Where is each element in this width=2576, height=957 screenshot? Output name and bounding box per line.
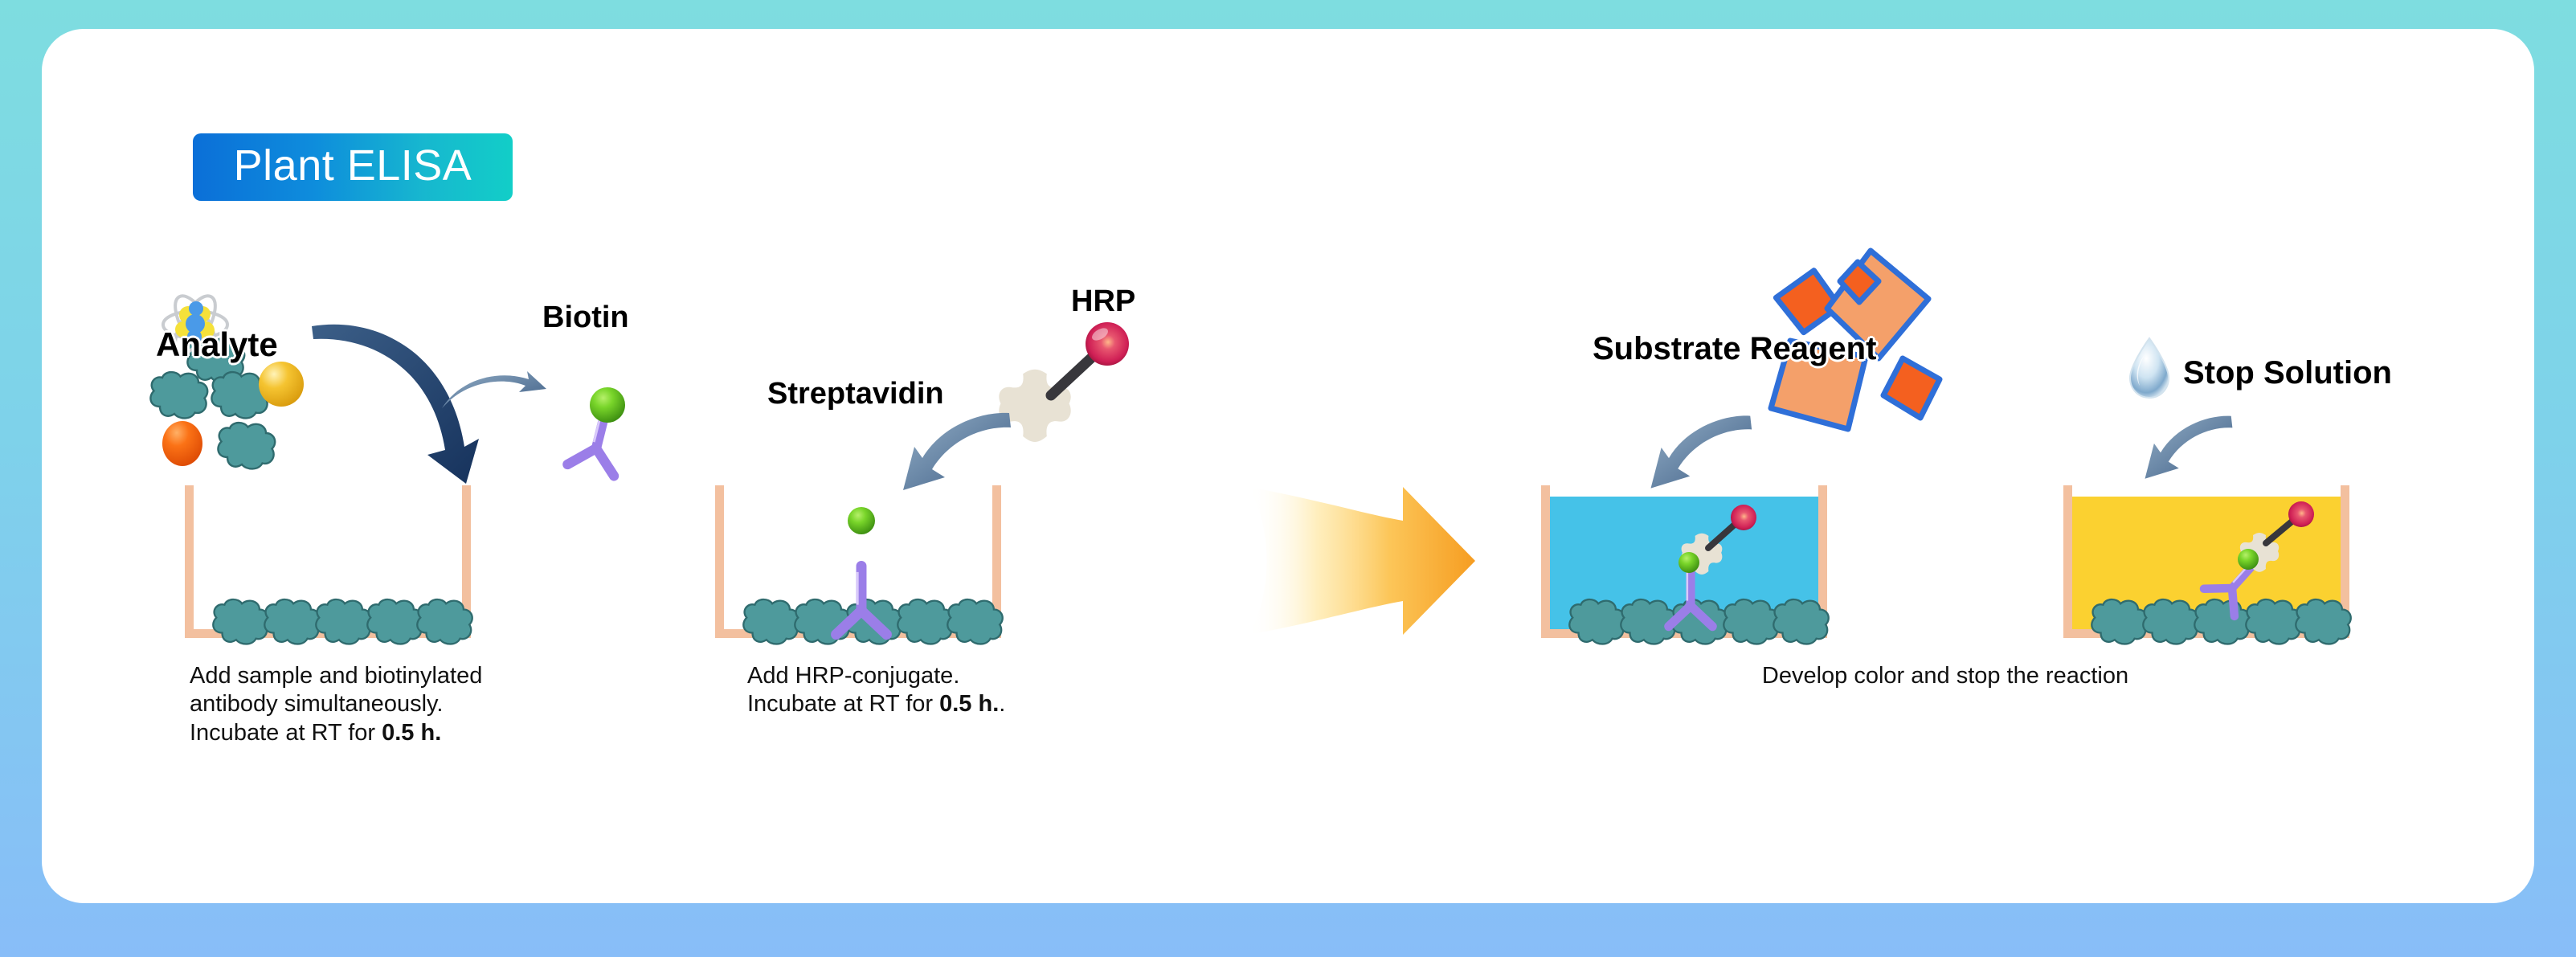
biotin-sphere (590, 387, 625, 423)
microplate-well-4 (2063, 485, 2349, 638)
microplate-well-3 (1541, 485, 1827, 638)
page-title-badge: Plant ELISA (193, 133, 513, 201)
curved-down-arrow-icon (442, 371, 546, 408)
orange-sphere (162, 421, 202, 466)
diagram-stage: Plant ELISA (42, 29, 2534, 903)
biotin-sphere (1678, 552, 1699, 573)
hrp-linker (2266, 519, 2295, 543)
biotin-antibody (442, 350, 659, 495)
analyte-label: Analyte (156, 328, 278, 362)
well-4-contents (2063, 485, 2349, 638)
hrp-sphere (1086, 322, 1129, 366)
orange-right-arrow-icon (1245, 472, 1478, 649)
page-title: Plant ELISA (234, 144, 472, 187)
hrp-sphere (1731, 505, 1756, 530)
biotin-label: Biotin (542, 302, 629, 333)
biotin-sphere (848, 507, 875, 534)
step-2-caption: Add HRP-conjugate. Incubate at RT for 0.… (747, 662, 1165, 719)
stop-solution-label: Stop Solution (2183, 357, 2392, 389)
well-1-coating (185, 485, 471, 638)
microplate-well-2 (715, 485, 1001, 638)
well-2-contents (715, 485, 1001, 638)
shared-caption: Develop color and stop the reaction (1541, 662, 2349, 690)
step-1-caption: Add sample and biotinylated antibody sim… (190, 662, 607, 747)
main-card: Plant ELISA (42, 29, 2534, 903)
hrp-linker (1708, 522, 1737, 548)
well-3-contents (1541, 485, 1827, 638)
microplate-well-1 (185, 485, 471, 638)
water-drop-icon (2127, 336, 2172, 400)
biotin-sphere (2238, 549, 2259, 570)
substrate-reagent-label: Substrate Reagent (1593, 333, 1876, 365)
streptavidin-label: Streptavidin (767, 378, 944, 409)
hrp-linker (1051, 354, 1096, 395)
yellow-sphere (259, 362, 304, 407)
hrp-sphere (2288, 501, 2314, 527)
